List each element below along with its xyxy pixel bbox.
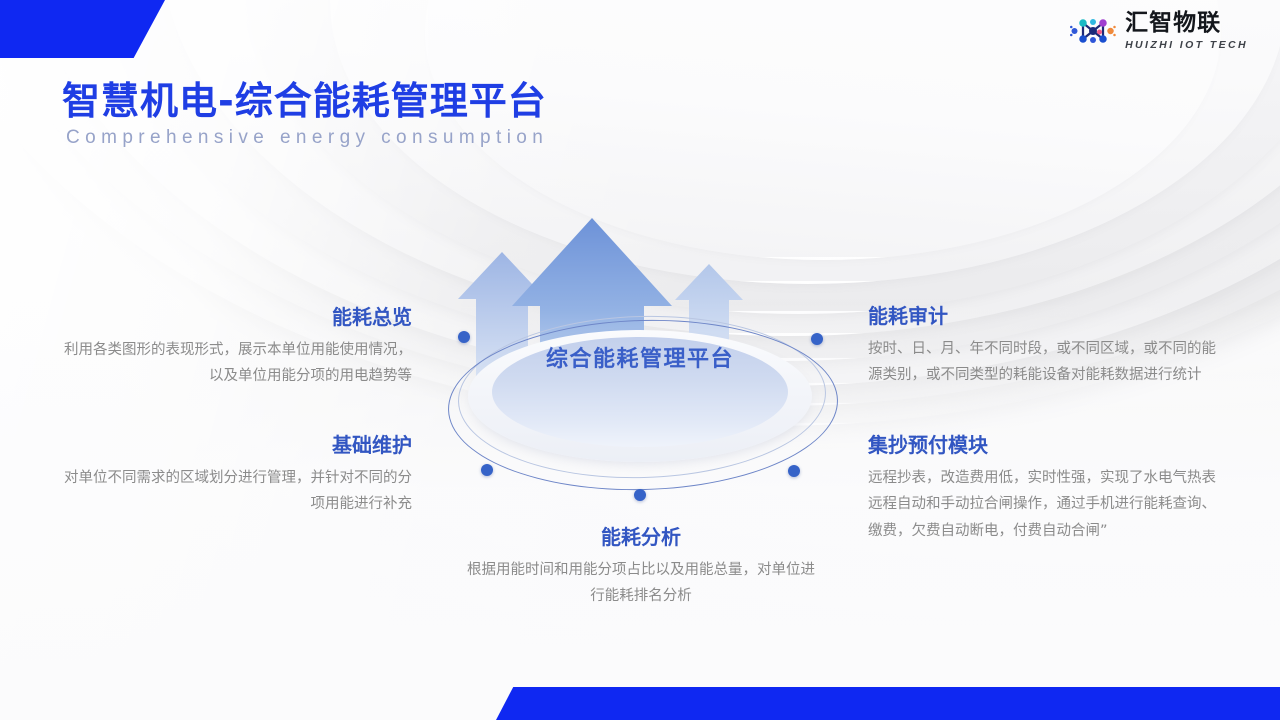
feature-heading-analysis: 能耗分析 bbox=[466, 525, 816, 550]
page-title: 智慧机电-综合能耗管理平台 bbox=[62, 70, 547, 125]
feature-block-analysis: 能耗分析 根据用能时间和用能分项占比以及用能总量，对单位进行能耗排名分析 bbox=[466, 525, 816, 610]
feature-heading-overview: 能耗总览 bbox=[62, 305, 412, 330]
feature-block-overview: 能耗总览 利用各类图形的表现形式，展示本单位用能使用情况，以及单位用能分项的用电… bbox=[62, 305, 412, 390]
feature-block-basic-maintenance: 基础维护 对单位不同需求的区域划分进行管理，并针对不同的分项用能进行补充 bbox=[58, 433, 412, 518]
corner-accent-top-left bbox=[0, 0, 165, 58]
orbit-node-left-bottom bbox=[481, 464, 493, 476]
feature-block-audit: 能耗审计 按时、日、月、年不同时段，或不同区域，或不同的能源类别，或不同类型的耗… bbox=[868, 304, 1228, 389]
brand-logo: 汇智物联 HUIZHI IOT TECH bbox=[1070, 12, 1248, 51]
feature-body-overview: 利用各类图形的表现形式，展示本单位用能使用情况，以及单位用能分项的用电趋势等 bbox=[62, 337, 412, 390]
orbit-node-right-bottom bbox=[788, 465, 800, 477]
logo-name-en: HUIZHI IOT TECH bbox=[1125, 40, 1248, 51]
feature-heading-audit: 能耗审计 bbox=[868, 304, 1228, 329]
feature-heading-basic-maintenance: 基础维护 bbox=[58, 433, 412, 458]
corner-accent-bottom-right bbox=[496, 687, 1280, 720]
logo-text: 汇智物联 HUIZHI IOT TECH bbox=[1125, 12, 1248, 51]
center-graphic: 综合能耗管理平台 bbox=[380, 210, 900, 530]
feature-heading-prepaid: 集抄预付模块 bbox=[868, 433, 1226, 458]
feature-body-analysis: 根据用能时间和用能分项占比以及用能总量，对单位进行能耗排名分析 bbox=[466, 557, 816, 610]
logo-name-cn: 汇智物联 bbox=[1125, 12, 1248, 35]
center-platform-label: 综合能耗管理平台 bbox=[380, 341, 900, 373]
feature-body-audit: 按时、日、月、年不同时段，或不同区域，或不同的能源类别，或不同类型的耗能设备对能… bbox=[868, 336, 1228, 389]
slide-canvas: 汇智物联 HUIZHI IOT TECH 智慧机电-综合能耗管理平台 Compr… bbox=[0, 0, 1280, 720]
molecule-network-icon bbox=[1070, 12, 1116, 50]
feature-body-basic-maintenance: 对单位不同需求的区域划分进行管理，并针对不同的分项用能进行补充 bbox=[58, 465, 412, 518]
feature-block-prepaid: 集抄预付模块 远程抄表，改造费用低，实时性强，实现了水电气热表远程自动和手动拉合… bbox=[868, 433, 1226, 544]
page-subtitle: Comprehensive energy consumption bbox=[66, 127, 548, 149]
feature-body-prepaid: 远程抄表，改造费用低，实时性强，实现了水电气热表远程自动和手动拉合闸操作，通过手… bbox=[868, 465, 1226, 544]
orbit-node-bottom-center bbox=[634, 489, 646, 501]
